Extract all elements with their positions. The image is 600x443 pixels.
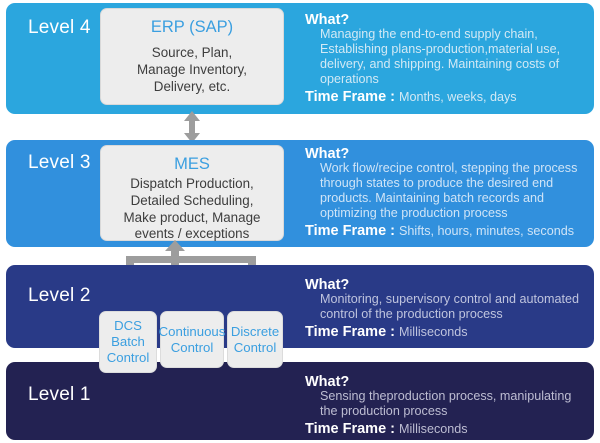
level-1-info: What? Sensing theproduction process, man… <box>305 374 590 438</box>
level-3-time-frame: Time Frame :Shifts, hours, minutes, seco… <box>305 222 590 240</box>
level-3-what-body: Work flow/recipe control, stepping the p… <box>305 161 590 220</box>
level-1-time-frame-label: Time Frame : <box>305 421 395 437</box>
level-3-time-frame-value: Shifts, hours, minutes, seconds <box>399 224 574 238</box>
connector-level4-level3-icon <box>176 110 208 144</box>
level-1-time-frame: Time Frame :Milliseconds <box>305 420 590 438</box>
level-3-time-frame-label: Time Frame : <box>305 223 395 239</box>
level-1-label: Level 1 <box>28 384 91 406</box>
level-2-time-frame-label: Time Frame : <box>305 324 395 340</box>
level-1-time-frame-value: Milliseconds <box>399 422 468 436</box>
control-card-discrete-control[interactable]: Discrete Control <box>227 311 283 368</box>
erp-card-description: Source, Plan, Manage Inventory, Delivery… <box>101 45 283 96</box>
level-2-label: Level 2 <box>28 285 91 307</box>
level-2-time-frame-value: Milliseconds <box>399 325 468 339</box>
control-card-dcs-batch-control[interactable]: DCS Batch Control <box>99 311 157 373</box>
level-4-time-frame-label: Time Frame : <box>305 89 395 105</box>
level-4-label: Level 4 <box>28 17 91 39</box>
mes-card-title: MES <box>101 155 283 175</box>
level-4-time-frame-value: Months, weeks, days <box>399 90 517 104</box>
erp-card-title: ERP (SAP) <box>101 18 283 38</box>
level-1-what-label: What? <box>305 374 590 390</box>
mes-card-description: Dispatch Production, Detailed Scheduling… <box>101 176 283 244</box>
level-4-info: What? Managing the end-to-end supply cha… <box>305 12 590 106</box>
level-3-label: Level 3 <box>28 152 91 174</box>
level-2-info: What? Monitoring, supervisory control an… <box>305 277 590 341</box>
automation-pyramid-diagram: Level 4 ERP (SAP) Source, Plan, Manage I… <box>0 0 600 443</box>
level-2-what-label: What? <box>305 277 590 293</box>
level-4-time-frame: Time Frame :Months, weeks, days <box>305 88 590 106</box>
level-1-what-body: Sensing theproduction process, manipulat… <box>305 389 590 419</box>
level-3-info: What? Work flow/recipe control, stepping… <box>305 146 590 240</box>
level-4-what-label: What? <box>305 12 590 28</box>
level-2-time-frame: Time Frame :Milliseconds <box>305 323 590 341</box>
control-card-continuous-control[interactable]: Continuous Control <box>160 311 224 368</box>
mes-card[interactable]: MES Dispatch Production, Detailed Schedu… <box>100 145 284 241</box>
level-2-what-body: Monitoring, supervisory control and auto… <box>305 292 590 322</box>
erp-card[interactable]: ERP (SAP) Source, Plan, Manage Inventory… <box>100 8 284 105</box>
level-3-what-label: What? <box>305 146 590 162</box>
level-4-what-body: Managing the end-to-end supply chain, Es… <box>305 27 590 86</box>
